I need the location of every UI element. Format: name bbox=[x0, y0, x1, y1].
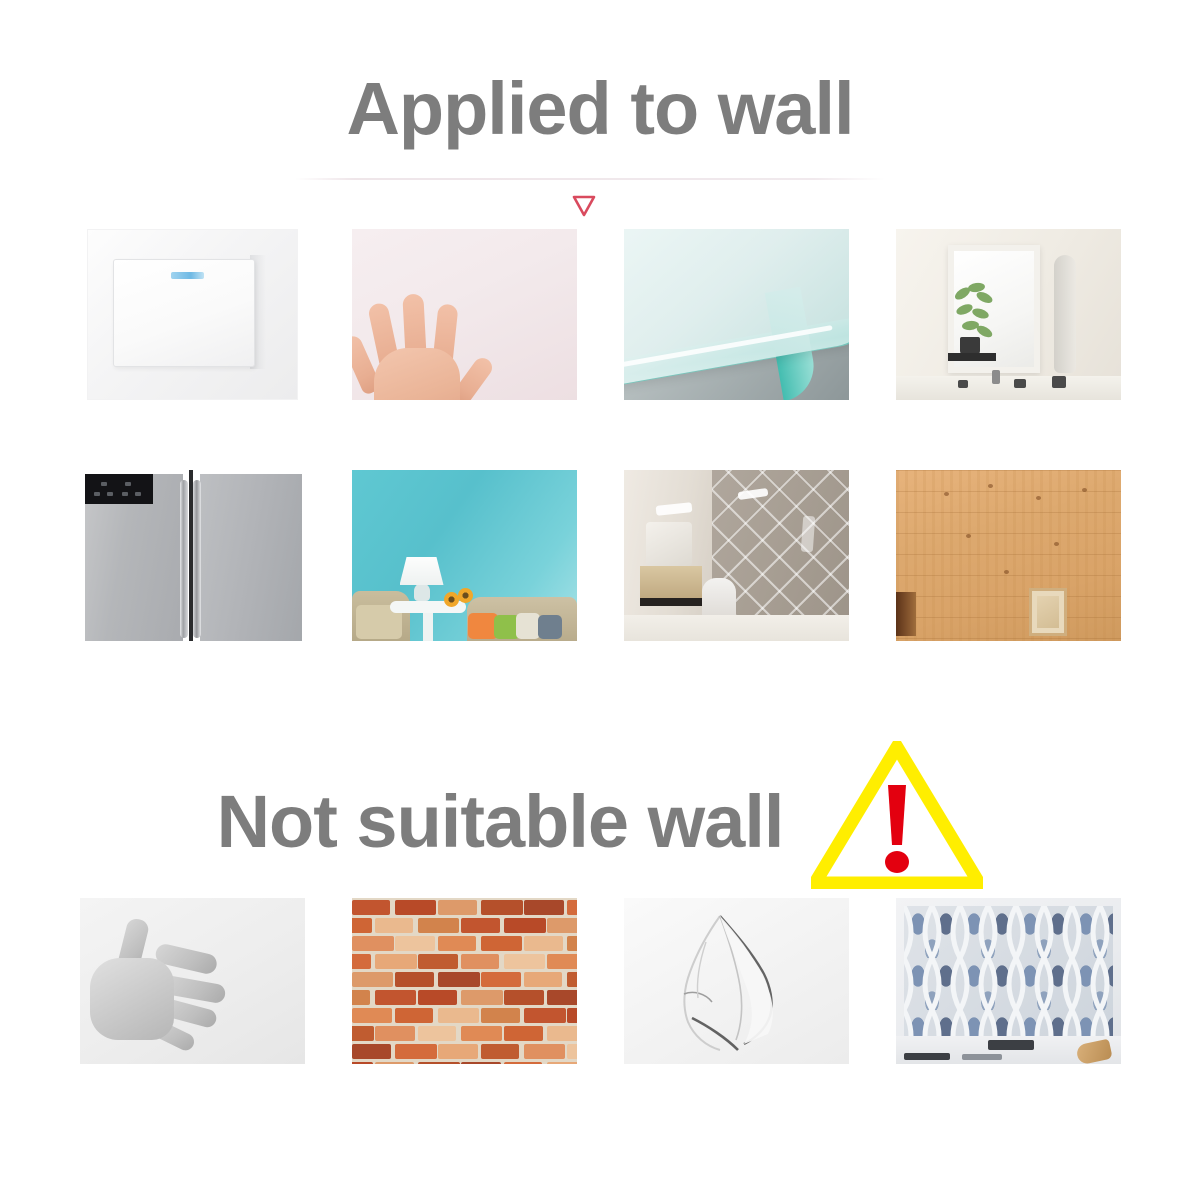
brick bbox=[567, 1008, 577, 1023]
brick bbox=[395, 936, 435, 951]
photo-turquoise-living-room bbox=[352, 470, 577, 641]
counter-object bbox=[1052, 376, 1066, 388]
wallpaper-lattice-overlay bbox=[904, 906, 1113, 1038]
brick bbox=[438, 936, 476, 951]
brick bbox=[352, 972, 393, 987]
control-button bbox=[135, 492, 141, 496]
counter-object bbox=[958, 380, 968, 388]
photo-tiled-bathroom bbox=[624, 470, 849, 641]
bathroom-mirror-scene bbox=[896, 229, 1121, 400]
photo-peeling-paint-wall bbox=[624, 898, 849, 1064]
brick bbox=[481, 1044, 519, 1059]
brick bbox=[375, 990, 416, 1005]
refrigerator-right-door bbox=[200, 474, 302, 641]
palm bbox=[90, 958, 174, 1040]
brick bbox=[567, 900, 577, 915]
floor-object bbox=[962, 1054, 1002, 1060]
brick bbox=[438, 1008, 479, 1023]
applied-photo-row-2 bbox=[0, 470, 1200, 641]
dark-object bbox=[896, 592, 916, 636]
leaf bbox=[971, 307, 990, 321]
wood-knot bbox=[1054, 542, 1059, 546]
brick bbox=[524, 1008, 566, 1023]
switch-led-indicator bbox=[171, 272, 204, 279]
applied-to-wall-title: Applied to wall bbox=[346, 67, 853, 150]
control-button bbox=[94, 492, 100, 496]
brick bbox=[352, 900, 390, 915]
shelf bbox=[948, 353, 996, 361]
brick bbox=[352, 936, 394, 951]
wall-reflection bbox=[800, 516, 814, 553]
brick bbox=[438, 972, 480, 987]
brick bbox=[375, 918, 413, 933]
brick bbox=[547, 1062, 577, 1064]
warning-triangle-icon bbox=[811, 741, 983, 889]
clean-hand bbox=[360, 286, 486, 400]
dusty-hand bbox=[84, 912, 234, 1052]
refrigerator-scene bbox=[80, 470, 305, 641]
light-switch-scene bbox=[80, 229, 305, 400]
cushion bbox=[538, 615, 562, 639]
dusty-hand-scene bbox=[80, 898, 305, 1064]
floor-object bbox=[988, 1040, 1034, 1050]
brick bbox=[461, 918, 500, 933]
brick bbox=[395, 1008, 433, 1023]
bathroom-floor bbox=[624, 615, 849, 641]
brick bbox=[375, 1026, 415, 1041]
photo-bathroom-mirror bbox=[896, 229, 1121, 400]
brick bbox=[504, 990, 544, 1005]
floor-object bbox=[904, 1053, 950, 1060]
brick bbox=[375, 954, 417, 969]
brick bbox=[395, 900, 436, 915]
brick bbox=[504, 1026, 543, 1041]
control-button bbox=[107, 492, 113, 496]
photo-glass-panel-corner bbox=[624, 229, 849, 400]
brick-wall-scene bbox=[352, 898, 577, 1064]
table-leg bbox=[423, 611, 433, 641]
brick bbox=[438, 1044, 478, 1059]
refrigerator-door-gap bbox=[189, 470, 193, 641]
brick bbox=[352, 1008, 392, 1023]
paint-flake-crack bbox=[624, 898, 849, 1064]
not-suitable-photo-row bbox=[0, 898, 1200, 1064]
applied-divider bbox=[295, 178, 885, 180]
brick bbox=[481, 972, 521, 987]
glass-corner-scene bbox=[624, 229, 849, 400]
brick bbox=[524, 936, 563, 951]
vanity-shadow bbox=[640, 598, 702, 606]
turquoise-room-scene bbox=[352, 470, 577, 641]
counter-object bbox=[1014, 379, 1026, 388]
brick bbox=[481, 936, 522, 951]
brick bbox=[461, 1062, 501, 1064]
plant-leaves bbox=[952, 283, 994, 341]
wood-knot bbox=[966, 534, 971, 538]
brick bbox=[461, 1026, 502, 1041]
brick bbox=[418, 1062, 460, 1064]
brick bbox=[524, 900, 564, 915]
flower bbox=[444, 592, 459, 607]
wood-knot bbox=[944, 492, 949, 496]
photo-stainless-refrigerator bbox=[80, 470, 305, 641]
brick bbox=[481, 900, 523, 915]
brick bbox=[524, 1044, 565, 1059]
brick bbox=[547, 990, 577, 1005]
applied-photo-row-1 bbox=[0, 229, 1200, 400]
lamp-shade bbox=[400, 557, 444, 585]
cushion bbox=[516, 613, 540, 639]
control-button bbox=[125, 482, 131, 486]
brick bbox=[504, 954, 545, 969]
wood-plank-surface bbox=[896, 470, 1121, 641]
peeling-paint-scene bbox=[624, 898, 849, 1064]
vase bbox=[1054, 255, 1076, 373]
wood-knot bbox=[988, 484, 993, 488]
brick bbox=[352, 954, 371, 969]
wood-knot bbox=[1004, 570, 1009, 574]
brick bbox=[547, 954, 577, 969]
brick bbox=[352, 990, 370, 1005]
vanity-mirror bbox=[646, 522, 692, 566]
brick bbox=[352, 918, 372, 933]
refrigerator-handle bbox=[193, 480, 201, 638]
brick bbox=[352, 1044, 391, 1059]
refrigerator-handle bbox=[180, 480, 188, 638]
not-suitable-wall-header: Not suitable wall bbox=[0, 755, 1200, 889]
wallpaper-scene bbox=[896, 898, 1121, 1064]
photo-textured-wallpaper bbox=[896, 898, 1121, 1064]
applied-to-wall-header: Applied to wall bbox=[0, 72, 1200, 146]
not-suitable-wall-title: Not suitable wall bbox=[217, 785, 784, 859]
wood-knot bbox=[1036, 496, 1041, 500]
brick bbox=[438, 900, 477, 915]
lamp-base bbox=[414, 583, 430, 601]
brick bbox=[418, 918, 459, 933]
brick bbox=[395, 972, 434, 987]
leaf bbox=[974, 290, 993, 306]
brick bbox=[461, 990, 503, 1005]
brick bbox=[547, 1026, 577, 1041]
brick bbox=[524, 972, 562, 987]
leaf bbox=[954, 302, 973, 317]
refrigerator-control-panel bbox=[85, 474, 153, 504]
tiled-bathroom-scene bbox=[624, 470, 849, 641]
down-triangle-icon bbox=[571, 194, 597, 218]
framed-picture bbox=[1029, 588, 1067, 636]
switch-rocker bbox=[113, 259, 255, 367]
brick bbox=[504, 1062, 542, 1064]
photo-brick-wall bbox=[352, 898, 577, 1064]
side-table bbox=[390, 601, 466, 641]
brick bbox=[395, 1044, 437, 1059]
brick bbox=[418, 990, 457, 1005]
wood-wall-scene bbox=[896, 470, 1121, 641]
brick bbox=[418, 1026, 456, 1041]
wood-knot bbox=[1082, 488, 1087, 492]
brick bbox=[567, 972, 577, 987]
applied-divider-group bbox=[295, 178, 885, 218]
brick bbox=[375, 1062, 414, 1064]
counter bbox=[896, 376, 1121, 400]
vanity-cabinet bbox=[640, 566, 702, 600]
brick bbox=[504, 918, 546, 933]
faucet bbox=[992, 370, 1000, 384]
brick bbox=[567, 936, 577, 951]
photo-light-switch bbox=[80, 229, 305, 400]
photo-hand-on-smooth-wall bbox=[352, 229, 577, 400]
brick bbox=[352, 1026, 374, 1041]
brick bbox=[547, 918, 577, 933]
brick bbox=[418, 954, 458, 969]
photo-dusty-hand bbox=[80, 898, 305, 1064]
brick bbox=[481, 1008, 520, 1023]
photo-wood-plank-wall bbox=[896, 470, 1121, 641]
brick bbox=[461, 954, 499, 969]
control-button bbox=[122, 492, 128, 496]
flower bbox=[458, 588, 473, 603]
control-button bbox=[101, 482, 107, 486]
palm bbox=[374, 348, 460, 400]
brick bbox=[352, 1062, 373, 1064]
framed-picture-image bbox=[1037, 596, 1059, 628]
brick bbox=[567, 1044, 577, 1059]
smooth-wall-scene bbox=[352, 229, 577, 400]
